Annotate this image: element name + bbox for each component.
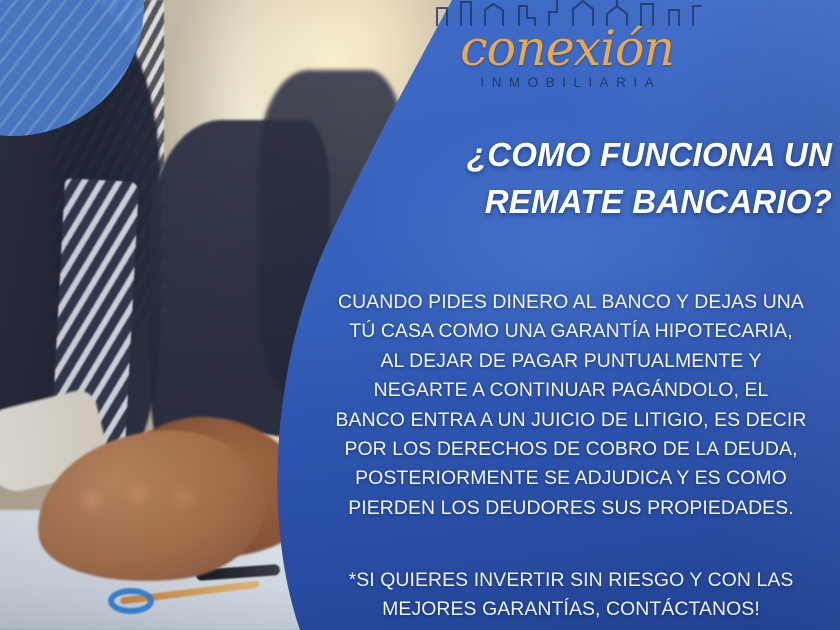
brand-subtitle: INMOBILIARIA	[300, 75, 834, 90]
headline-line-2: REMATE BANCARIO?	[324, 179, 832, 226]
cta-line-1: *SI QUIERES INVERTIR SIN RIESGO Y CON LA…	[306, 566, 836, 595]
brand-logo: conexión INMOBILIARIA	[300, 0, 834, 90]
body-line-8: PIERDEN LOS DEUDORES SUS PROPIEDADES.	[306, 494, 836, 523]
page-title: ¿COMO FUNCIONA UN REMATE BANCARIO?	[324, 132, 832, 226]
body-line-4: NEGARTE A CONTINUAR PAGÁNDOLO, EL	[306, 376, 836, 405]
body-copy: CUANDO PIDES DINERO AL BANCO Y DEJAS UNA…	[306, 288, 836, 523]
content-column: conexión INMOBILIARIA ¿COMO FUNCIONA UN …	[300, 0, 840, 630]
brand-script-name: conexión	[300, 24, 834, 74]
headline-line-1: ¿COMO FUNCIONA UN	[467, 136, 832, 173]
body-line-7: POSTERIORMENTE SE ADJUDICA Y ES COMO	[306, 464, 836, 493]
body-line-2: TÚ CASA COMO UNA GARANTÍA HIPOTECARIA,	[306, 317, 836, 346]
cta-line-2: MEJORES GARANTÍAS, CONTÁCTANOS!	[306, 595, 836, 624]
body-line-3: AL DEJAR DE PAGAR PUNTUALMENTE Y	[306, 347, 836, 376]
poster-canvas: conexión INMOBILIARIA ¿COMO FUNCIONA UN …	[0, 0, 840, 630]
body-line-5: BANCO ENTRA A UN JUICIO DE LITIGIO, ES D…	[306, 406, 836, 435]
body-line-1: CUANDO PIDES DINERO AL BANCO Y DEJAS UNA	[306, 288, 836, 317]
body-line-6: POR LOS DERECHOS DE COBRO DE LA DEUDA,	[306, 435, 836, 464]
city-skyline-outline-icon	[431, 0, 703, 26]
call-to-action: *SI QUIERES INVERTIR SIN RIESGO Y CON LA…	[306, 566, 836, 625]
